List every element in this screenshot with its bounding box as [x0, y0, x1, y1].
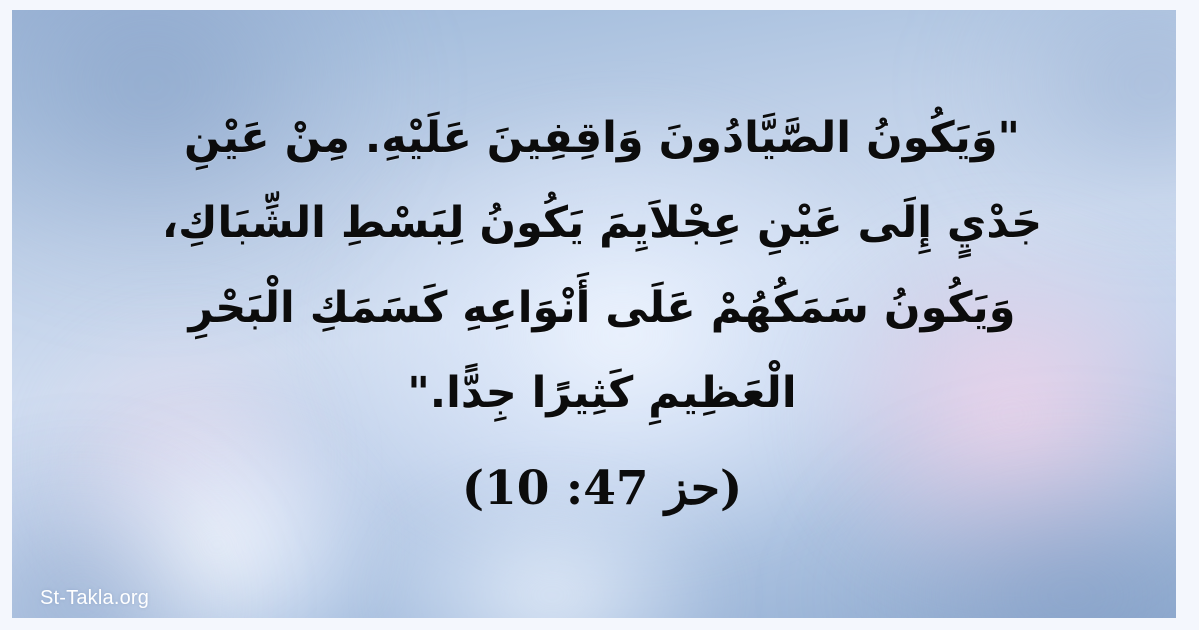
verse-reference: (حز 47: 10)	[152, 458, 1052, 520]
background-photo-panel: "وَيَكُونُ الصَّيَّادُونَ وَاقِفِينَ عَل…	[12, 10, 1176, 618]
verse-line-3: وَيَكُونُ سَمَكُهُمْ عَلَى أَنْوَاعِهِ ك…	[152, 266, 1052, 351]
verse-text-block: "وَيَكُونُ الصَّيَّادُونَ وَاقِفِينَ عَل…	[152, 96, 1052, 436]
verse-line-2: جَدْيٍ إِلَى عَيْنِ عِجْلاَيِمَ يَكُونُ …	[152, 181, 1052, 266]
site-watermark: St-Takla.org	[40, 587, 149, 610]
verse-line-1: "وَيَكُونُ الصَّيَّادُونَ وَاقِفِينَ عَل…	[152, 96, 1052, 181]
verse-line-4: الْعَظِيمِ كَثِيرًا جِدًّا."	[152, 351, 1052, 436]
verse-image-canvas: "وَيَكُونُ الصَّيَّادُونَ وَاقِفِينَ عَل…	[0, 0, 1199, 630]
